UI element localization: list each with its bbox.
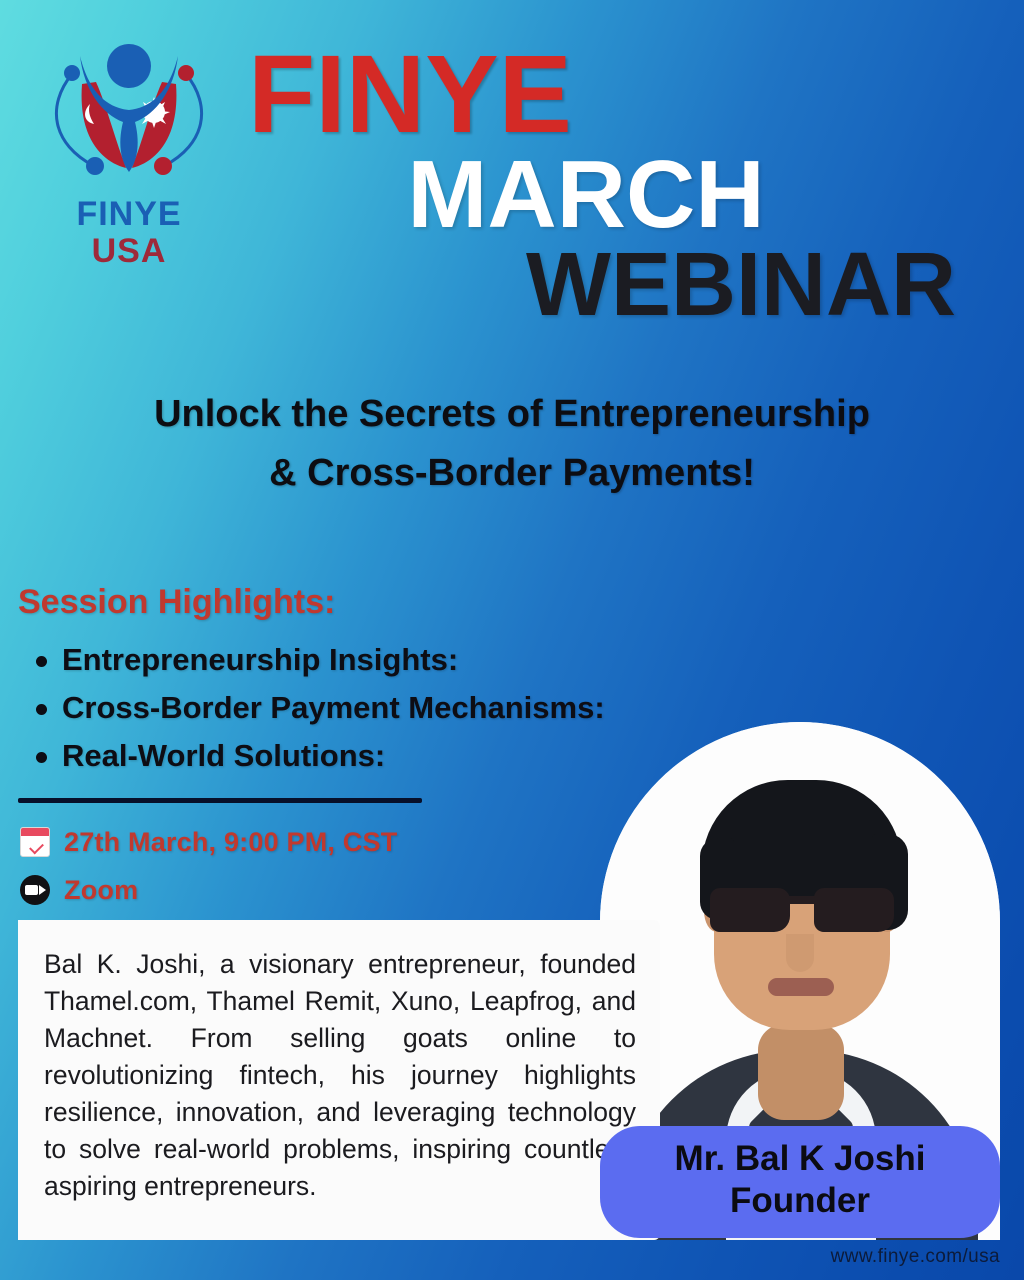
bullet-icon: [36, 656, 47, 667]
footer-website-url[interactable]: www.finye.com/usa: [831, 1246, 1000, 1268]
speaker-name-badge: Mr. Bal K Joshi Founder: [600, 1126, 1000, 1238]
poster-subtitle: Unlock the Secrets of Entrepreneurship &…: [40, 385, 984, 503]
event-date-row: 27th March, 9:00 PM, CST: [18, 818, 538, 866]
speaker-bio-text: Bal K. Joshi, a visionary entrepreneur, …: [44, 946, 636, 1205]
logo-wordmark: FINYE: [34, 196, 224, 232]
webinar-poster: FINYE USA FINYE MARCH WEBINAR Unlock the…: [0, 0, 1024, 1280]
calendar-icon: [18, 825, 52, 859]
finye-logo: FINYE USA: [34, 26, 224, 266]
list-item: Entrepreneurship Insights:: [18, 636, 738, 684]
highlights-heading: Session Highlights:: [18, 583, 738, 622]
event-meta: 27th March, 9:00 PM, CST Zoom: [18, 818, 538, 914]
subtitle-line-2: & Cross-Border Payments!: [40, 444, 984, 503]
event-date: 27th March, 9:00 PM, CST: [64, 827, 397, 858]
logo-subtext: USA: [34, 233, 224, 269]
event-platform: Zoom: [64, 875, 138, 906]
speaker-role: Founder: [600, 1180, 1000, 1222]
title-line-finye: FINYE: [240, 44, 960, 146]
speaker-bio-box: Bal K. Joshi, a visionary entrepreneur, …: [18, 920, 660, 1240]
speaker-name: Mr. Bal K Joshi: [675, 1139, 926, 1178]
title-line-march: MARCH: [240, 150, 960, 239]
poster-title: FINYE MARCH WEBINAR: [240, 44, 960, 327]
section-divider: [18, 798, 422, 803]
highlight-label: Cross-Border Payment Mechanisms:: [62, 690, 605, 725]
video-camera-icon: [18, 873, 52, 907]
bullet-icon: [36, 704, 47, 715]
title-line-webinar: WEBINAR: [240, 244, 960, 328]
finye-people-logo-icon: [34, 26, 224, 196]
bullet-icon: [36, 752, 47, 763]
highlight-label: Real-World Solutions:: [62, 738, 385, 773]
event-platform-row: Zoom: [18, 866, 538, 914]
sunglasses-icon: [708, 888, 898, 932]
poster-header: FINYE USA FINYE MARCH WEBINAR: [0, 0, 1024, 330]
highlight-label: Entrepreneurship Insights:: [62, 642, 458, 677]
subtitle-line-1: Unlock the Secrets of Entrepreneurship: [40, 385, 984, 444]
